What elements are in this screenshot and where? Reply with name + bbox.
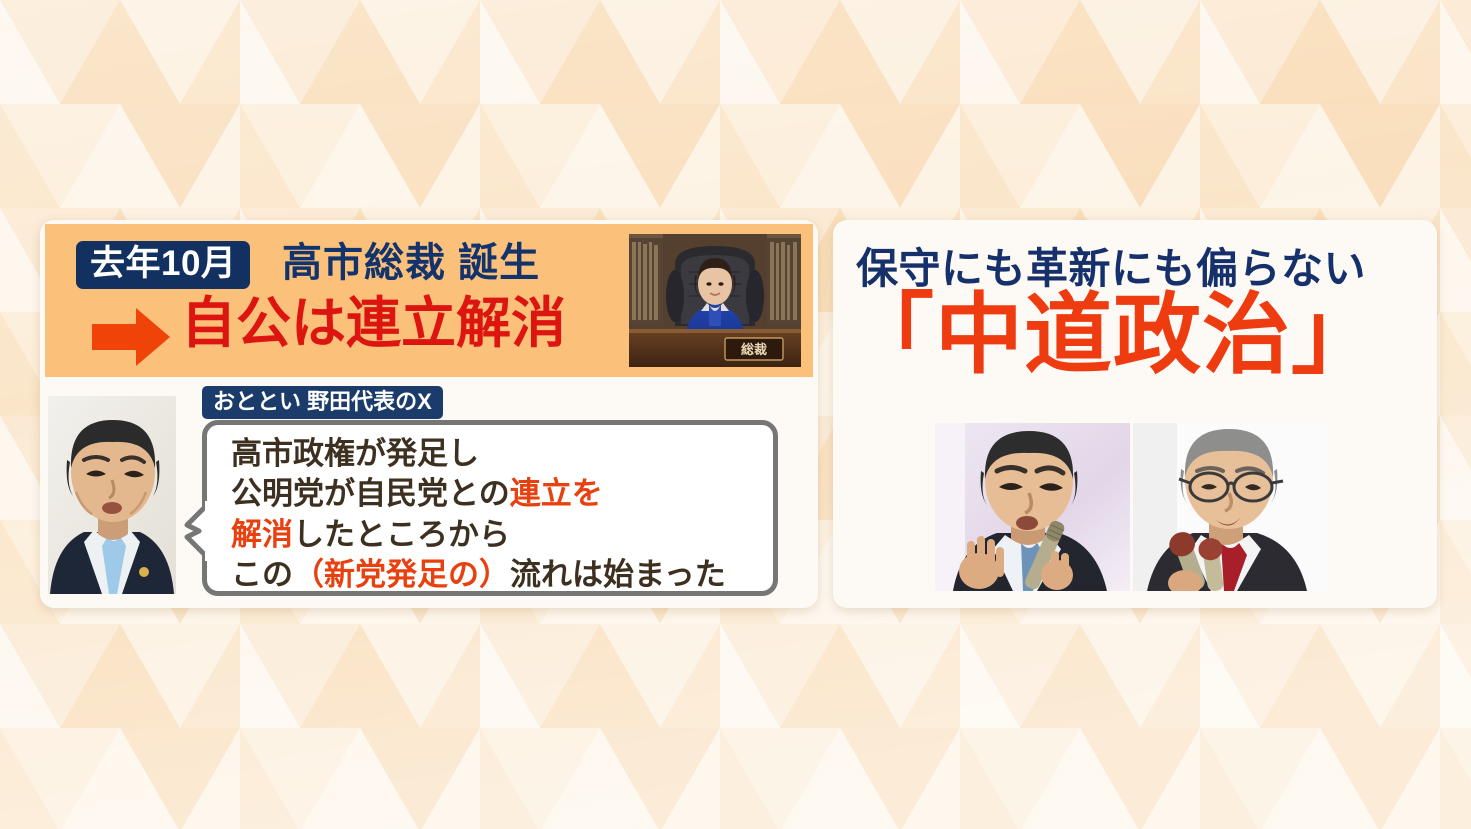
- saito-speaking-photo: [1133, 423, 1328, 591]
- quote-text: 高市政権が発足し公明党が自民党との連立を解消したところからこの（新党発足の）流れ…: [231, 434, 765, 595]
- date-badge: 去年10月: [76, 241, 250, 289]
- quote-highlight: （新党発足の）: [293, 557, 510, 592]
- takaichi-photo: 総裁: [629, 234, 801, 367]
- quote-plain: 公明党が自民党との: [231, 476, 510, 511]
- left-panel-card: 去年10月 高市総裁 誕生 自公は連立解消: [40, 220, 818, 608]
- quote-line: この（新党発足の）流れは始まった: [231, 555, 765, 595]
- quote-speech-bubble: 高市政権が発足し公明党が自民党との連立を解消したところからこの（新党発足の）流れ…: [202, 420, 778, 596]
- band-subline: 自公は連立解消: [181, 292, 566, 355]
- quote-line: 公明党が自民党との連立を: [231, 474, 765, 514]
- right-arrow-icon: [92, 308, 170, 366]
- quote-plain: 高市政権が発足し: [231, 436, 479, 471]
- quote-highlight: 解消: [231, 517, 293, 552]
- quote-highlight: 連立を: [510, 476, 603, 511]
- band-headline: 高市総裁 誕生: [282, 240, 540, 286]
- source-badge: おととい 野田代表のX: [202, 386, 443, 419]
- quote-line: 高市政権が発足し: [231, 434, 765, 474]
- noda-portrait-photo: [48, 396, 176, 594]
- nameplate-label: 総裁: [741, 342, 767, 358]
- quote-plain: この: [231, 557, 293, 592]
- noda-speaking-photo: [935, 423, 1130, 591]
- quote-plain: したところから: [293, 517, 510, 552]
- right-panel-card: 保守にも革新にも偏らない 「中道政治」: [833, 220, 1437, 608]
- quote-plain: 流れは始まった: [510, 557, 726, 592]
- quote-line: 解消したところから: [231, 515, 765, 555]
- right-title: 「中道政治」: [846, 287, 1380, 384]
- orange-headline-band: 去年10月 高市総裁 誕生 自公は連立解消: [45, 224, 813, 377]
- speech-bubble-tail: [181, 501, 211, 561]
